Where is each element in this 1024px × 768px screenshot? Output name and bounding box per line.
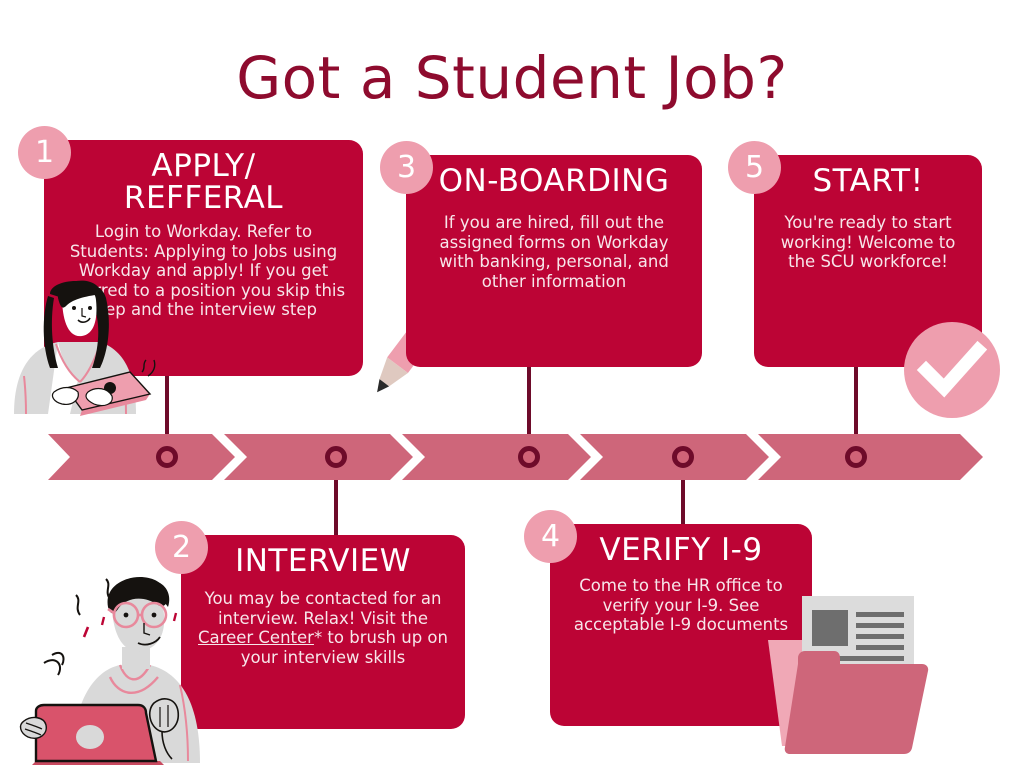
timeline-node-2[interactable]	[325, 446, 347, 468]
woman-with-laptop-illustration	[0, 276, 156, 416]
timeline-node-5[interactable]	[845, 446, 867, 468]
timeline-node-3[interactable]	[518, 446, 540, 468]
step-card-2-body: You may be contacted for an interview. R…	[195, 589, 451, 667]
career-center-link[interactable]: Career Center	[198, 628, 314, 647]
step-card-3-panel: ON-BOARDING If you are hired, fill out t…	[406, 155, 702, 367]
step-number-badge-4: 4	[524, 510, 577, 563]
infographic-canvas: Got a Student Job?	[0, 0, 1024, 768]
step-card-1-title-line-2: REFFERAL	[58, 182, 349, 214]
step-number-badge-3: 3	[380, 141, 433, 194]
step-card-2-panel: INTERVIEW You may be contacted for an in…	[181, 535, 465, 729]
man-with-laptop-illustration	[14, 565, 214, 765]
process-timeline-bar	[48, 434, 983, 480]
step-card-4-title: VERIFY I-9	[564, 534, 798, 566]
checkmark-circle-icon	[904, 322, 1000, 418]
step-number-badge-2: 2	[155, 521, 208, 574]
page-title: Got a Student Job?	[0, 44, 1024, 112]
step-card-3-title: ON-BOARDING	[420, 165, 688, 197]
timeline-bar-shape	[48, 434, 983, 480]
step-number-badge-1: 1	[18, 126, 71, 179]
step-card-1-title: APPLY/ REFFERAL	[58, 150, 349, 214]
document-folder-illustration	[760, 588, 940, 756]
timeline-node-1[interactable]	[156, 446, 178, 468]
step-number-badge-5: 5	[728, 141, 781, 194]
step-card-1-title-line-1: APPLY/	[58, 150, 349, 182]
step-card-2-title: INTERVIEW	[195, 545, 451, 577]
step-card-5-body: You're ready to start working! Welcome t…	[768, 213, 968, 271]
step-card-3[interactable]: 3 ON-BOARDING If you are hired, fill out…	[380, 141, 702, 367]
step-card-3-body: If you are hired, fill out the assigned …	[420, 213, 688, 291]
timeline-node-4[interactable]	[672, 446, 694, 468]
step-card-5-title: START!	[768, 165, 968, 197]
step-card-2-body-before: You may be contacted for an interview. R…	[205, 589, 442, 627]
